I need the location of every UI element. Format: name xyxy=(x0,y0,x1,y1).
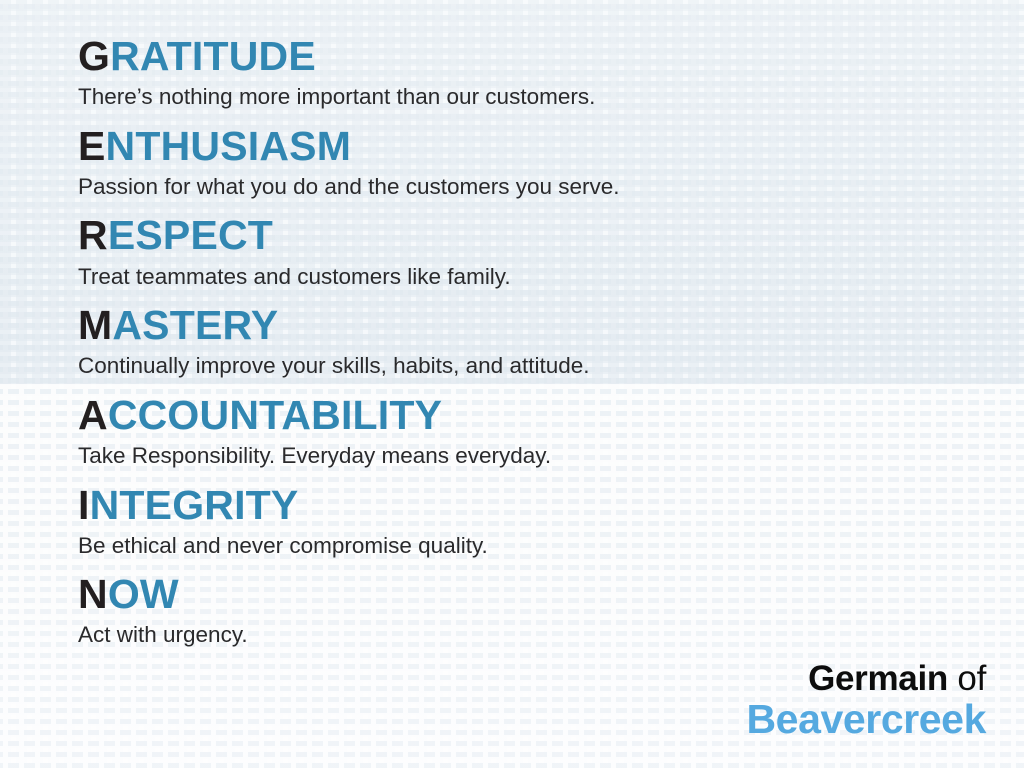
logo-location-name: Beavercreek xyxy=(746,699,986,740)
value-heading-remainder: ASTERY xyxy=(112,302,278,348)
value-block-respect: RESPECT Treat teammates and customers li… xyxy=(78,213,984,290)
value-description-now: Act with urgency. xyxy=(78,621,984,648)
value-block-now: NOW Act with urgency. xyxy=(78,572,984,649)
value-heading-remainder: NTHUSIASM xyxy=(106,123,352,169)
value-heading-enthusiasm: ENTHUSIASM xyxy=(78,124,984,168)
value-block-integrity: INTEGRITY Be ethical and never compromis… xyxy=(78,483,984,560)
value-initial-letter: R xyxy=(78,212,108,258)
value-heading-remainder: NTEGRITY xyxy=(90,482,299,528)
value-block-accountability: ACCOUNTABILITY Take Responsibility. Ever… xyxy=(78,393,984,470)
value-initial-letter: E xyxy=(78,123,106,169)
value-heading-now: NOW xyxy=(78,572,984,616)
value-description-gratitude: There’s nothing more important than our … xyxy=(78,83,984,110)
value-initial-letter: I xyxy=(78,482,90,528)
value-block-enthusiasm: ENTHUSIASM Passion for what you do and t… xyxy=(78,124,984,201)
value-heading-respect: RESPECT xyxy=(78,213,984,257)
value-block-mastery: MASTERY Continually improve your skills,… xyxy=(78,303,984,380)
value-heading-accountability: ACCOUNTABILITY xyxy=(78,393,984,437)
value-heading-remainder: ESPECT xyxy=(108,212,273,258)
value-heading-remainder: CCOUNTABILITY xyxy=(108,392,442,438)
value-description-respect: Treat teammates and customers like famil… xyxy=(78,263,984,290)
value-description-mastery: Continually improve your skills, habits,… xyxy=(78,352,984,379)
dealership-logo: Germain of Beavercreek xyxy=(746,661,986,740)
value-heading-gratitude: GRATITUDE xyxy=(78,34,984,78)
value-block-gratitude: GRATITUDE There’s nothing more important… xyxy=(78,34,984,111)
value-description-integrity: Be ethical and never compromise quality. xyxy=(78,532,984,559)
value-initial-letter: A xyxy=(78,392,108,438)
logo-connector-word: of xyxy=(948,659,986,698)
value-initial-letter: M xyxy=(78,302,112,348)
logo-brand-name: Germain xyxy=(808,659,948,698)
value-heading-remainder: OW xyxy=(108,571,179,617)
value-heading-integrity: INTEGRITY xyxy=(78,483,984,527)
value-initial-letter: G xyxy=(78,33,110,79)
core-values-poster: GRATITUDE There’s nothing more important… xyxy=(0,0,1024,768)
value-description-accountability: Take Responsibility. Everyday means ever… xyxy=(78,442,984,469)
value-description-enthusiasm: Passion for what you do and the customer… xyxy=(78,173,984,200)
value-heading-remainder: RATITUDE xyxy=(110,33,316,79)
value-initial-letter: N xyxy=(78,571,108,617)
value-heading-mastery: MASTERY xyxy=(78,303,984,347)
logo-line-primary: Germain of xyxy=(746,661,986,696)
